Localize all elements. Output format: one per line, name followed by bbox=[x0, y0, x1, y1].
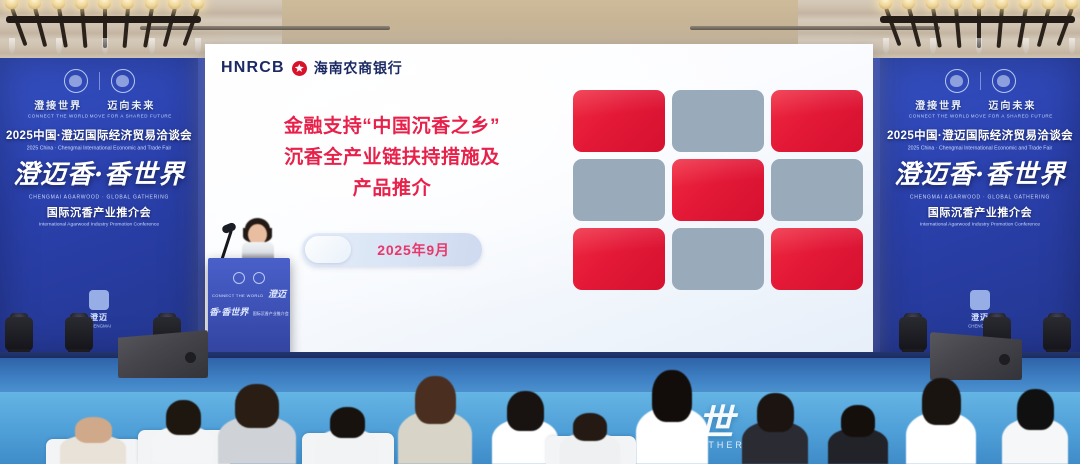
chandelier-arm bbox=[123, 8, 130, 48]
chandelier-crystal bbox=[56, 38, 62, 54]
audience-head bbox=[757, 393, 794, 432]
photo-meeting bbox=[573, 159, 665, 221]
conference-photo: 澄接世界 CONNECT THE WORLD 迈向未来 MOVE FOR A S… bbox=[0, 0, 1080, 464]
banner-title-en: 2025 China · Chengmai International Econ… bbox=[880, 144, 1080, 151]
chandelier-arm bbox=[80, 8, 87, 48]
audience-head bbox=[922, 378, 961, 425]
chandelier-bulb bbox=[926, 0, 939, 9]
chandelier-bulb bbox=[98, 0, 111, 9]
presentation-screen: HNRCB 海南农商银行 金融支持“中国沉香之乡” 沉香全产业链扶持措施及 产品… bbox=[205, 44, 873, 362]
slogan-en: CONNECT THE WORLD bbox=[28, 114, 89, 119]
banner-title-cn: 2025中国·澄迈国际经济贸易洽谈会 bbox=[880, 127, 1080, 143]
audience-member bbox=[218, 386, 296, 464]
moving-head-light bbox=[2, 306, 36, 356]
chandelier-crystal bbox=[102, 38, 108, 54]
slide-title-line: 金融支持“中国沉香之乡” bbox=[213, 112, 571, 143]
emblem-icon bbox=[111, 69, 135, 93]
audience-member bbox=[636, 372, 708, 464]
banner-calligraphy-en: CHENGMAI AGARWOOD · GLOBAL GATHERING bbox=[880, 193, 1080, 199]
chandelier-bulb bbox=[52, 0, 65, 9]
photo-field bbox=[771, 159, 863, 221]
slogan-cn: 澄接世界 bbox=[915, 97, 963, 112]
chandelier-bulb bbox=[972, 0, 985, 9]
chandelier-arm bbox=[954, 8, 961, 48]
podium-subtitle: 国际沉香产业推介会 bbox=[253, 311, 289, 316]
slide-title: 金融支持“中国沉香之乡” 沉香全产业链扶持措施及 产品推介 bbox=[213, 112, 571, 204]
audience-head bbox=[573, 413, 607, 441]
audience-head bbox=[235, 384, 279, 428]
emblem-icon bbox=[64, 69, 88, 93]
bank-brand-lockup: HNRCB 海南农商银行 bbox=[221, 58, 403, 78]
slogan-cn: 迈向未来 bbox=[107, 97, 155, 112]
emblem-icon bbox=[945, 69, 969, 93]
emblem-divider bbox=[980, 72, 981, 90]
audience-head bbox=[330, 407, 365, 438]
slide-date-badge: 2025年9月 bbox=[302, 233, 482, 266]
slogan-cn: 迈向未来 bbox=[988, 97, 1036, 112]
chandelier-crystal bbox=[1069, 38, 1075, 54]
banner-subtitle-cn: 国际沉香产业推介会 bbox=[880, 204, 1080, 220]
chandelier-bulb bbox=[145, 0, 158, 9]
hnrcb-logo-icon bbox=[292, 61, 307, 76]
slogan-en: MOVE FOR A SHARED FUTURE bbox=[90, 114, 172, 119]
audience-member bbox=[60, 418, 126, 464]
chandelier-arm bbox=[907, 7, 921, 47]
chandelier-bulb bbox=[1019, 0, 1032, 9]
audience-member bbox=[906, 380, 976, 464]
banner-calligraphy-en: CHENGMAI AGARWOOD · GLOBAL GATHERING bbox=[0, 193, 198, 199]
chandelier-bulb bbox=[168, 0, 181, 9]
chandelier-bulb bbox=[902, 0, 915, 9]
banner-emblems bbox=[0, 68, 198, 94]
photo-collage bbox=[573, 90, 863, 290]
chandelier-bulb bbox=[191, 0, 204, 9]
podium-emblem-icon bbox=[208, 272, 290, 284]
banner-title-cn: 2025中国·澄迈国际经济贸易洽谈会 bbox=[0, 127, 198, 143]
audience-member bbox=[742, 394, 808, 464]
slogan-cn: 澄接世界 bbox=[34, 97, 82, 112]
audience-member bbox=[316, 408, 378, 464]
moving-head-light bbox=[1040, 306, 1074, 356]
audience-head bbox=[415, 376, 456, 424]
brand-name-cn: 海南农商银行 bbox=[314, 58, 403, 78]
banner-slogan: 迈向未来 MOVE FOR A SHARED FUTURE bbox=[98, 97, 164, 118]
banner-title-en: 2025 China · Chengmai International Econ… bbox=[0, 144, 198, 151]
audience-head bbox=[652, 370, 692, 422]
chandelier-arm bbox=[162, 7, 176, 47]
chandelier-bulb bbox=[28, 0, 41, 9]
chandelier-bulb bbox=[949, 0, 962, 9]
accent-tile-4 bbox=[573, 228, 665, 290]
chandelier-arm bbox=[997, 8, 1004, 48]
chandelier-crystal bbox=[1023, 38, 1029, 54]
audience-member bbox=[398, 378, 472, 464]
slide-date-label: 2025年9月 bbox=[351, 240, 482, 260]
slide-title-line: 沉香全产业链扶持措施及 bbox=[213, 143, 571, 174]
slogan-en: MOVE FOR A SHARED FUTURE bbox=[971, 114, 1053, 119]
chandelier-crystal bbox=[195, 38, 201, 54]
stage-monitor-right bbox=[930, 332, 1022, 380]
emblem-divider bbox=[99, 72, 100, 90]
banner-slogan: 澄接世界 CONNECT THE WORLD bbox=[915, 97, 964, 118]
photo-ceremony bbox=[672, 228, 764, 290]
photo-market bbox=[672, 90, 764, 152]
audience-member bbox=[828, 406, 888, 464]
chandelier-crystal bbox=[976, 38, 982, 54]
moving-head-light bbox=[896, 306, 930, 356]
banner-slogan: 迈向未来 MOVE FOR A SHARED FUTURE bbox=[979, 97, 1045, 118]
accent-tile-3 bbox=[672, 159, 764, 221]
banner-subtitle-en: International Agarwood Industry Promotio… bbox=[880, 221, 1080, 226]
slogan-en: CONNECT THE WORLD bbox=[909, 114, 970, 119]
chandelier-bulb bbox=[1042, 0, 1055, 9]
banner-calligraphy-cn: 澄迈香·香世界 bbox=[0, 154, 198, 191]
accent-tile-1 bbox=[573, 90, 665, 152]
audience-head bbox=[166, 400, 201, 435]
audience-member bbox=[1002, 390, 1068, 464]
chandelier-bulb bbox=[75, 0, 88, 9]
banner-emblems bbox=[880, 68, 1080, 94]
banner-calligraphy-cn: 澄迈香·香世界 bbox=[880, 154, 1080, 191]
chandelier-bulb bbox=[879, 0, 892, 9]
chandelier-bar bbox=[880, 16, 1075, 23]
audience-member bbox=[560, 414, 620, 464]
banner-subtitle-en: International Agarwood Industry Promotio… bbox=[0, 221, 198, 226]
slide-title-line: 产品推介 bbox=[213, 174, 571, 205]
chandelier-crystal bbox=[930, 38, 936, 54]
audience-head bbox=[841, 405, 875, 437]
audience-head bbox=[507, 391, 544, 431]
chandelier-bulb bbox=[121, 0, 134, 9]
date-badge-cap bbox=[305, 236, 351, 263]
stage-monitor-left bbox=[118, 330, 208, 378]
chandelier-bulb bbox=[995, 0, 1008, 9]
chandelier-bulb bbox=[5, 0, 18, 9]
chandelier-bulb bbox=[1065, 0, 1078, 9]
chandelier-crystal bbox=[149, 38, 155, 54]
accent-tile-2 bbox=[771, 90, 863, 152]
audience-head bbox=[1017, 389, 1054, 430]
audience-head bbox=[75, 417, 112, 443]
brand-abbrev: HNRCB bbox=[221, 59, 285, 77]
audience-member bbox=[152, 402, 214, 464]
banner-slogan: 澄接世界 CONNECT THE WORLD bbox=[34, 97, 83, 118]
chandelier-arm bbox=[1036, 7, 1050, 47]
podium-slogan-en: CONNECT THE WORLD bbox=[212, 293, 264, 298]
chandelier-crystal bbox=[883, 38, 889, 54]
moving-head-light bbox=[62, 306, 96, 356]
chandelier-crystal bbox=[9, 38, 15, 54]
podium-branding: CONNECT THE WORLD 澄迈香·香世界 国际沉香产业推介会 bbox=[208, 272, 290, 320]
chandelier-arm bbox=[33, 7, 47, 47]
chandelier-bar bbox=[6, 16, 201, 23]
banner-subtitle-cn: 国际沉香产业推介会 bbox=[0, 204, 198, 220]
accent-tile-5 bbox=[771, 228, 863, 290]
emblem-icon bbox=[992, 69, 1016, 93]
